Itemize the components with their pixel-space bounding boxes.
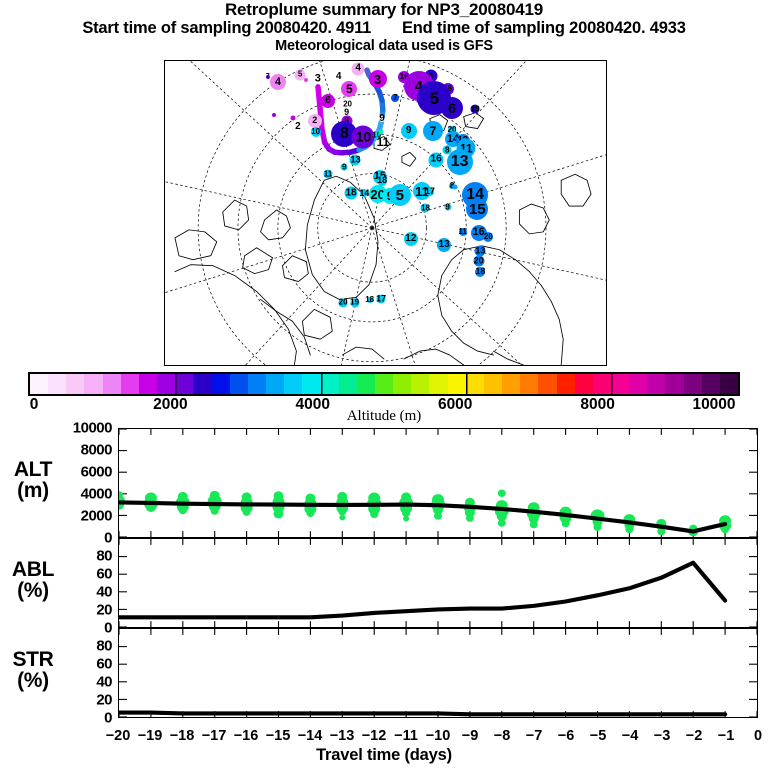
x-tick-labels: −20−19−18−17−16−15−14−13−12−11−10−9−8−7−… — [0, 728, 768, 748]
x-axis-title: Travel time (days) — [0, 746, 768, 765]
colorbar-segment — [393, 374, 411, 394]
colorbar-segment — [357, 374, 375, 394]
colorbar-segment — [466, 374, 484, 394]
retroplume-marker: 4 — [336, 74, 342, 80]
panel-name-line1: ALT — [14, 458, 52, 481]
y-tick-label: 0 — [40, 620, 112, 637]
retroplume-marker: 5 — [389, 184, 411, 206]
retroplume-marker — [304, 78, 308, 82]
retroplume-marker: 11 — [459, 228, 467, 236]
alt-scatter-point — [434, 512, 442, 519]
panel-name-line1: STR — [12, 648, 53, 671]
retroplume-marker: 7 — [423, 121, 443, 141]
retroplume-marker: 2 — [308, 114, 322, 128]
colorbar-segment — [429, 374, 447, 394]
x-tick-label: −5 — [590, 728, 607, 744]
alt-scatter-point — [530, 521, 538, 528]
retroplume-marker: 12 — [404, 232, 418, 246]
colorbar-segment — [212, 374, 230, 394]
y-tick-label: 60 — [40, 656, 112, 673]
y-tick-label: 40 — [40, 584, 112, 601]
retroplume-marker: 9 — [341, 164, 348, 171]
str-line — [119, 713, 725, 715]
panel-name-line2: (%) — [17, 669, 49, 692]
y-tick-label: 80 — [40, 638, 112, 655]
alt-scatter-point — [306, 510, 314, 517]
x-tick-label: −8 — [494, 728, 511, 744]
alt-scatter-point — [498, 490, 506, 497]
retroplume-marker: 15 — [466, 198, 488, 220]
retroplume-marker: 13 — [447, 149, 473, 175]
alt-scatter-point — [562, 520, 570, 527]
retroplume-marker: 7 — [391, 94, 399, 102]
polar-map[interactable]: 4534435164418562097619289210810972010111… — [164, 60, 607, 366]
colorbar-segment — [139, 374, 157, 394]
panel-row-name: ALT(m) — [4, 459, 62, 501]
retroplume-marker — [272, 113, 276, 117]
alt-scatter-point — [498, 519, 506, 526]
y-tick-label: 20 — [40, 602, 112, 619]
alt-scatter-point — [403, 516, 409, 522]
retroplume-marker — [290, 115, 295, 120]
x-tick-label: −19 — [138, 728, 163, 744]
y-tick-label: 0 — [40, 530, 112, 547]
x-tick-label: 0 — [754, 728, 762, 744]
alt-scatter-point — [338, 508, 346, 515]
retroplume-marker — [379, 129, 384, 134]
colorbar-segment — [411, 374, 429, 394]
y-tick-label: 60 — [40, 566, 112, 583]
colorbar-axis-label: Altitude (m) — [0, 408, 768, 425]
alt-scatter-point — [721, 526, 729, 533]
retroplume-marker: 6 — [321, 94, 335, 108]
sampling-time-line: Start time of sampling 20080420. 4911 En… — [0, 19, 768, 38]
colorbar-segment — [720, 374, 738, 394]
colorbar-segment — [647, 374, 665, 394]
alt-scatter-point — [274, 509, 284, 518]
colorbar-segment — [611, 374, 629, 394]
colorbar-segment — [121, 374, 139, 394]
timeseries-panels — [118, 428, 758, 718]
retroplume-marker: 20 — [473, 256, 484, 267]
retroplume-marker: 6 — [441, 97, 463, 119]
retroplume-marker: 2 — [295, 124, 301, 130]
colorbar-segment — [538, 374, 556, 394]
y-tick-label: 20 — [40, 692, 112, 709]
colorbar-segment — [157, 374, 175, 394]
y-tick-label: 2000 — [40, 508, 112, 525]
retroplume-marker: 13 — [350, 155, 361, 166]
retroplume-marker: 18 — [475, 267, 485, 277]
abl-plot — [119, 539, 757, 627]
x-tick-label: −17 — [202, 728, 227, 744]
y-tick-label: 4000 — [40, 486, 112, 503]
retroplume-marker: 13 — [437, 238, 451, 252]
colorbar-segment — [48, 374, 66, 394]
colorbar-segment — [284, 374, 302, 394]
panel-name-line1: ABL — [12, 558, 54, 581]
colorbar-segment — [502, 374, 520, 394]
x-tick-label: −9 — [462, 728, 479, 744]
page-title: Retroplume summary for NP3_20080419 — [0, 0, 768, 19]
abl-line — [119, 563, 725, 618]
retroplume-marker: 3 — [369, 70, 387, 88]
retroplume-marker: 18 — [367, 297, 373, 303]
x-tick-label: −4 — [622, 728, 639, 744]
retroplume-marker: 17 — [426, 188, 434, 196]
x-tick-label: −6 — [558, 728, 575, 744]
colorbar-segment — [230, 374, 248, 394]
retroplume-marker: 5 — [341, 81, 357, 97]
colorbar-segment — [684, 374, 702, 394]
retroplume-marker: 20 — [339, 298, 348, 307]
colorbar-segment — [175, 374, 193, 394]
y-tick-label: 80 — [40, 548, 112, 565]
colorbar-segment — [66, 374, 84, 394]
colorbar-segment — [103, 374, 121, 394]
x-tick-label: −11 — [394, 728, 418, 744]
retroplume-marker: 20 — [483, 232, 493, 242]
x-tick-label: −15 — [266, 728, 291, 744]
colorbar-segment — [665, 374, 683, 394]
x-tick-label: −1 — [718, 728, 735, 744]
colorbar-segment — [557, 374, 575, 394]
end-time-label: End time of sampling 20080420. 4933 — [402, 19, 686, 37]
x-tick-label: −13 — [330, 728, 355, 744]
panel-name-line2: (m) — [17, 479, 49, 502]
retroplume-marker: 9 — [401, 123, 417, 139]
retroplume-marker: 11 — [324, 170, 333, 179]
x-tick-label: −18 — [170, 728, 195, 744]
colorbar-segment — [266, 374, 284, 394]
retroplume-marker: 14 — [360, 189, 368, 197]
retroplume-marker: 9 — [444, 204, 451, 211]
met-data-label: Meteorological data used is GFS — [0, 38, 768, 55]
colorbar-segment — [375, 374, 393, 394]
panel-str[interactable] — [118, 628, 758, 718]
retroplume-marker: 11 — [380, 139, 386, 145]
colorbar-segment — [248, 374, 266, 394]
retroplume-marker: 18 — [421, 204, 430, 213]
altitude-colorbar[interactable] — [28, 372, 740, 396]
retroplume-marker: 4 — [352, 62, 365, 75]
colorbar-segment — [484, 374, 502, 394]
alt-scatter-point — [243, 508, 251, 515]
y-tick-label: 0 — [40, 710, 112, 727]
x-tick-label: −12 — [362, 728, 387, 744]
colorbar-segment — [30, 374, 48, 394]
title-block: Retroplume summary for NP3_20080419 Star… — [0, 0, 768, 55]
x-tick-label: −3 — [654, 728, 671, 744]
y-tick-label: 6000 — [40, 464, 112, 481]
colorbar-segment — [321, 374, 339, 394]
alt-scatter-point — [594, 524, 602, 531]
retroplume-marker: 10 — [311, 127, 321, 137]
retroplume-marker: 18 — [345, 187, 358, 200]
retroplume-marker: 19 — [350, 298, 359, 307]
x-tick-label: −2 — [686, 728, 703, 744]
alt-plot — [119, 429, 757, 537]
panel-row-name: ABL(%) — [4, 559, 62, 601]
y-tick-label: 8000 — [40, 442, 112, 459]
colorbar-segment — [448, 374, 466, 394]
colorbar-segment — [339, 374, 357, 394]
alt-scatter-point — [370, 511, 378, 518]
alt-scatter-point — [179, 507, 187, 514]
x-tick-label: −16 — [234, 728, 259, 744]
colorbar-segment — [193, 374, 211, 394]
panel-abl[interactable] — [118, 538, 758, 628]
x-tick-label: −10 — [426, 728, 451, 744]
retroplume-marker — [453, 185, 458, 190]
x-tick-label: −7 — [526, 728, 543, 744]
retroplume-marker: 16 — [429, 152, 444, 167]
colorbar-segment — [702, 374, 720, 394]
str-plot — [119, 629, 757, 717]
start-time-label: Start time of sampling 20080420. 4911 — [82, 19, 371, 37]
colorbar-segment — [575, 374, 593, 394]
retroplume-marker: 19 — [471, 105, 480, 114]
panel-name-line2: (%) — [17, 579, 49, 602]
colorbar-segment — [520, 374, 538, 394]
retroplume-markers: 4534435164418562097619289210810972010111… — [165, 61, 606, 365]
retroplume-marker: 17 — [377, 295, 386, 304]
alt-scatter-point — [625, 526, 633, 533]
panel-alt[interactable] — [118, 428, 758, 538]
retroplume-marker: 4 — [270, 74, 286, 90]
colorbar-segment — [302, 374, 320, 394]
colorbar-segment — [629, 374, 647, 394]
colorbar-segment — [593, 374, 611, 394]
alt-scatter-point — [339, 515, 345, 521]
alt-scatter-point — [466, 514, 474, 521]
x-tick-label: −14 — [298, 728, 323, 744]
colorbar-segment — [84, 374, 102, 394]
panel-row-name: STR(%) — [4, 649, 62, 691]
retroplume-marker: 7 — [266, 75, 270, 79]
y-tick-label: 40 — [40, 674, 112, 691]
x-tick-label: −20 — [106, 728, 131, 744]
retroplume-marker: 9 — [379, 116, 385, 122]
alt-scatter-point — [211, 507, 219, 514]
retroplume-marker: 3 — [314, 75, 321, 82]
